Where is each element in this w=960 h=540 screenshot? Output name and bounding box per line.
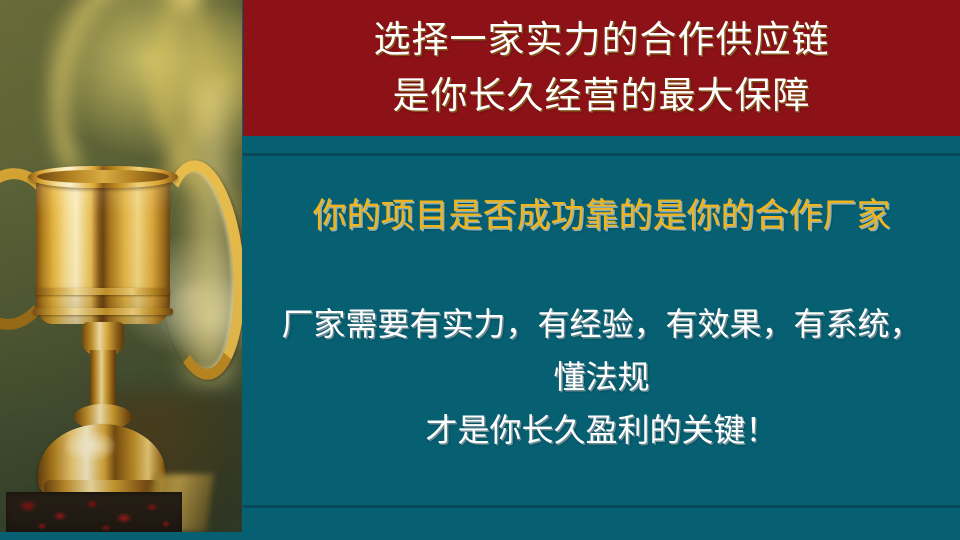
presentation-slide: 选择一家实力的合作供应链 是你长久经营的最大保障 你的项目是否成功靠的是你的合作…	[0, 0, 960, 540]
body-line-2: 懂法规	[243, 351, 960, 404]
title-line-2: 是你长久经营的最大保障	[393, 68, 811, 124]
trophy-cup-band-lower	[33, 308, 173, 315]
panel-divider-top	[243, 153, 960, 156]
trophy-marble-base	[6, 492, 182, 532]
trophy-illustration	[0, 0, 242, 532]
trophy-cup-band-upper	[36, 288, 170, 295]
body-line-1: 厂家需要有实力，有经验，有效果，有系统，	[243, 298, 960, 351]
trophy-cup-rim-inner	[37, 170, 169, 183]
title-banner: 选择一家实力的合作供应链 是你长久经营的最大保障	[243, 0, 960, 136]
body-line-3: 才是你长久盈利的关键！	[243, 404, 960, 457]
trophy-photo	[0, 0, 242, 532]
panel-divider-bottom	[243, 505, 960, 508]
bottom-strip	[0, 532, 960, 540]
section-heading: 你的项目是否成功靠的是你的合作厂家	[243, 194, 960, 238]
body-text-block: 厂家需要有实力，有经验，有效果，有系统， 懂法规 才是你长久盈利的关键！	[243, 298, 960, 457]
title-line-1: 选择一家实力的合作供应链	[374, 12, 830, 68]
content-panel: 你的项目是否成功靠的是你的合作厂家 厂家需要有实力，有经验，有效果，有系统， 懂…	[243, 136, 960, 540]
trophy-cup-shading	[36, 176, 170, 324]
